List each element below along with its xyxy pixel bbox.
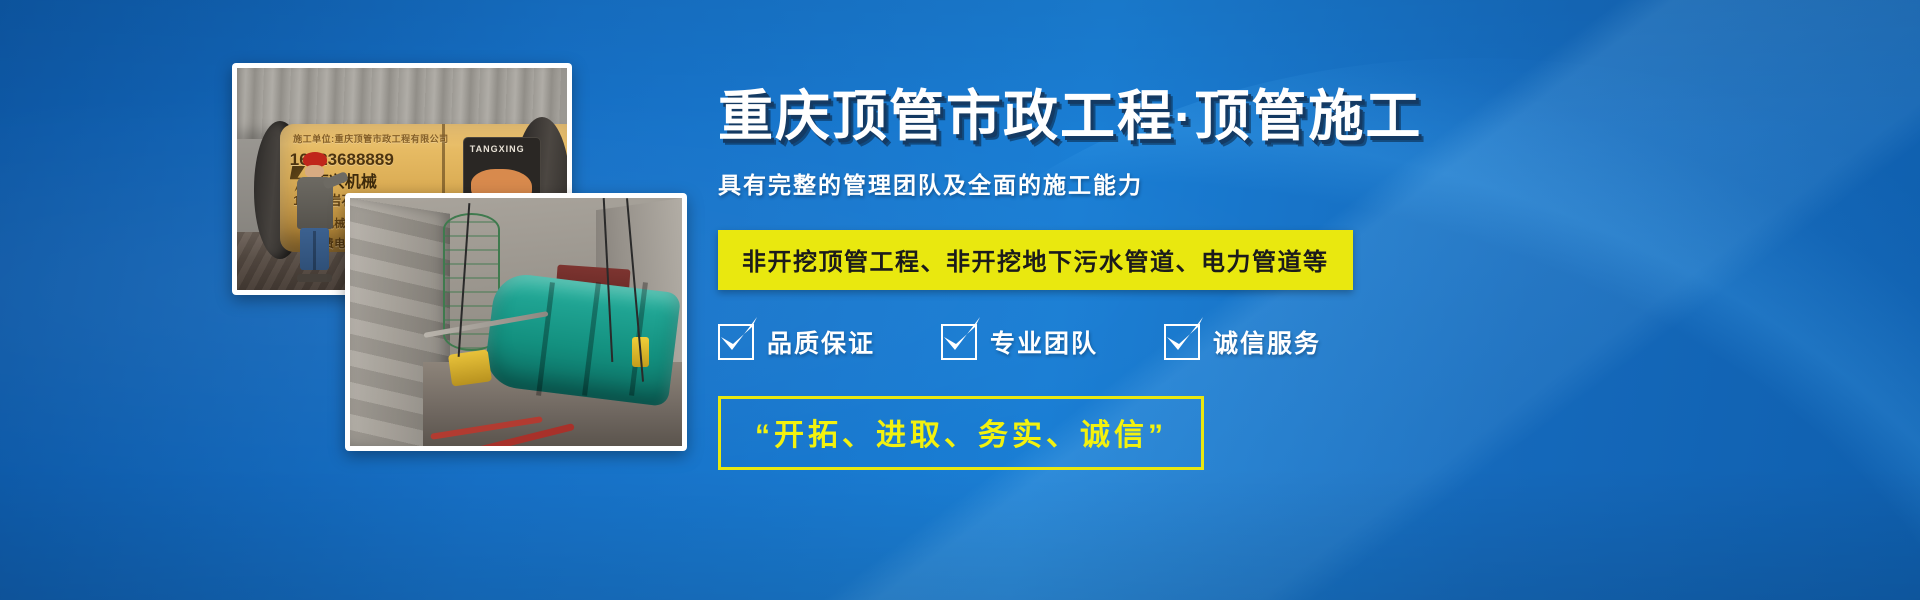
checkbox-checked-icon — [941, 324, 977, 360]
banner-content: 重庆顶管市政工程·顶管施工 具有完整的管理团队及全面的施工能力 非开挖顶管工程、… — [718, 86, 1818, 470]
badge-title: TANGXING — [470, 144, 525, 154]
checkbox-checked-icon — [1164, 324, 1200, 360]
checkbox-checked-icon — [718, 324, 754, 360]
page-title: 重庆顶管市政工程·顶管施工 — [718, 86, 1818, 148]
feature-label: 诚信服务 — [1213, 324, 1321, 360]
feature-label: 品质保证 — [767, 324, 875, 360]
feature-item-service: 诚信服务 — [1164, 324, 1321, 360]
machine-company-line: 施工单位:重庆顶管市政工程有限公司 — [293, 132, 449, 145]
promo-banner: 施工单位:重庆顶管市政工程有限公司 16623688889 1650 岩石破碎顶… — [0, 0, 1920, 600]
photo-2-scene — [350, 198, 682, 446]
page-subtitle: 具有完整的管理团队及全面的施工能力 — [718, 166, 1818, 200]
feature-item-quality: 品质保证 — [718, 324, 875, 360]
feature-label: 专业团队 — [990, 324, 1098, 360]
slogan-text: “开拓、进取、务实、诚信” — [755, 419, 1167, 452]
photo-pipe-jacking-pit — [345, 193, 687, 451]
service-scope-bar: 非开挖顶管工程、非开挖地下污水管道、电力管道等 — [718, 230, 1353, 290]
worker-figure — [293, 152, 336, 276]
slogan-box: “开拓、进取、务实、诚信” — [718, 396, 1204, 470]
feature-list: 品质保证 专业团队 诚信服务 — [718, 324, 1818, 360]
feature-item-team: 专业团队 — [941, 324, 1098, 360]
yellow-valve — [448, 349, 492, 386]
